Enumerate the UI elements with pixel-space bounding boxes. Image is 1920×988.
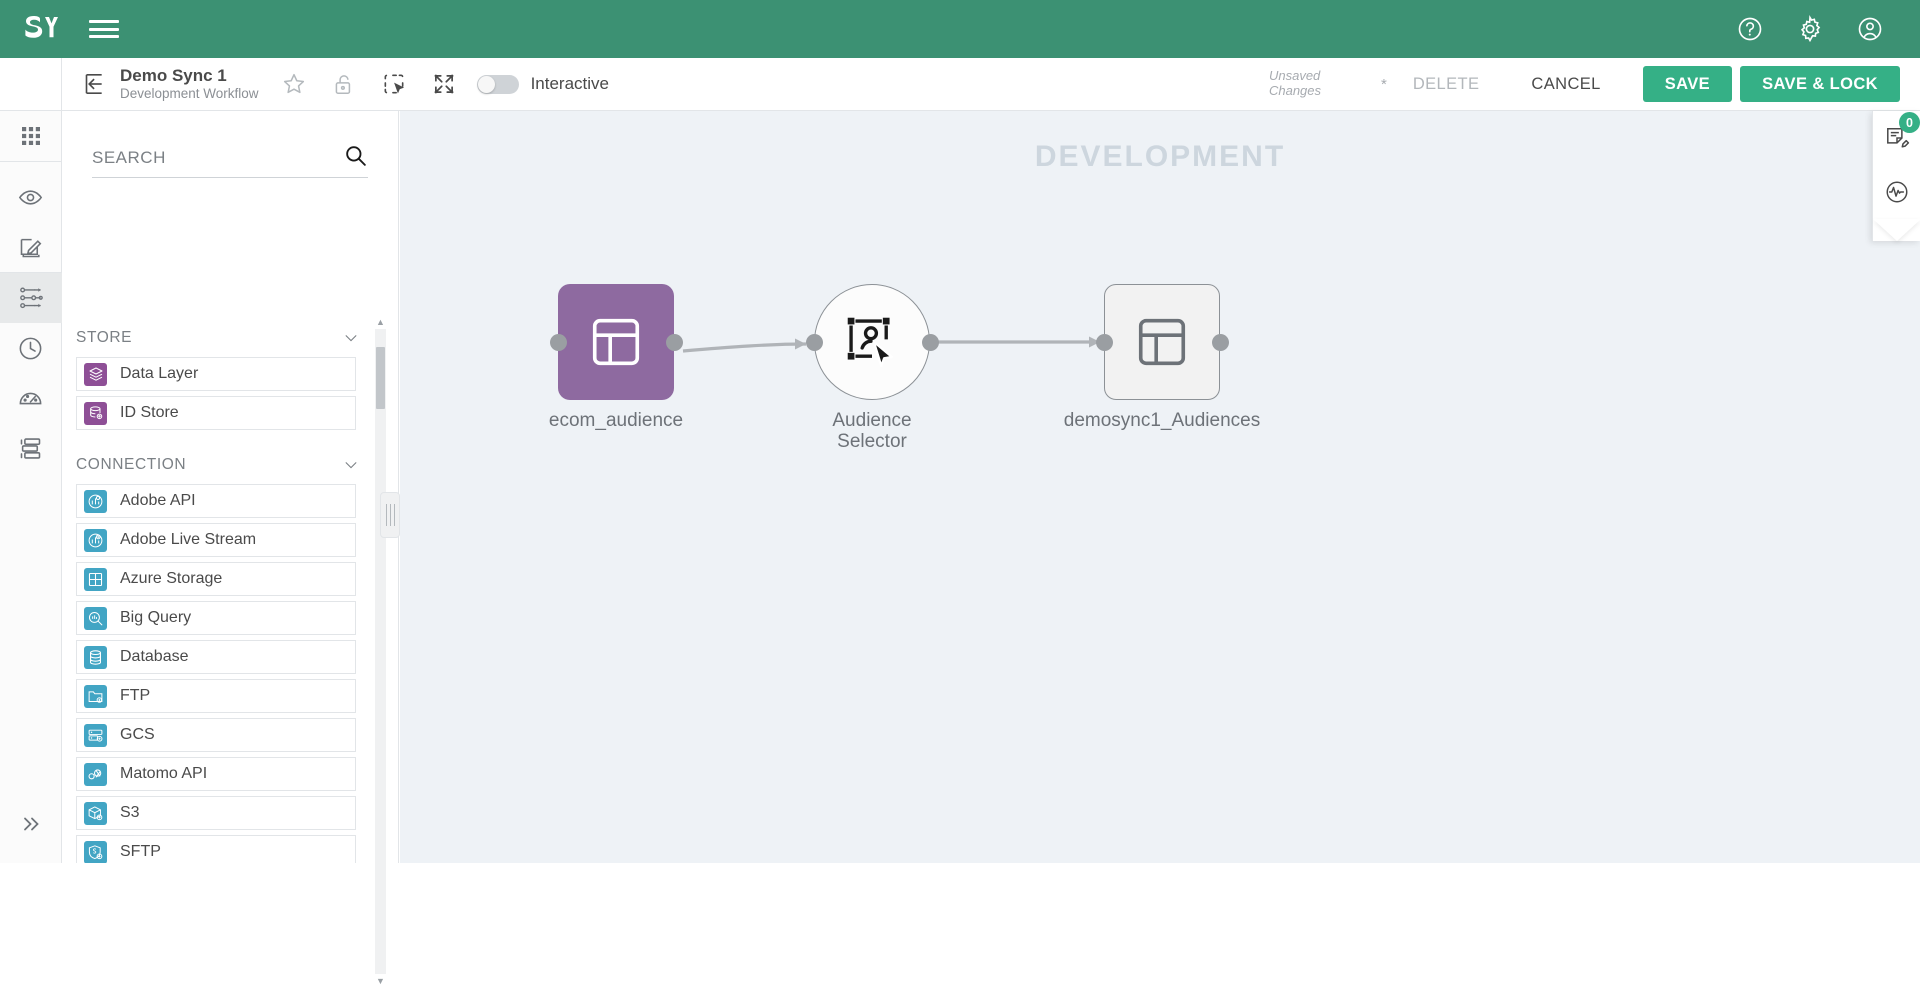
edit-icon [17, 234, 44, 261]
clock-icon [17, 335, 44, 362]
brand-logo-icon [24, 15, 60, 43]
rail-item-apps[interactable] [0, 111, 62, 161]
handle-grip-line [394, 504, 395, 526]
chevron-down-icon[interactable] [342, 329, 360, 347]
fit-to-screen-icon[interactable] [431, 71, 457, 97]
group-header-connection[interactable]: CONNECTION [76, 456, 398, 474]
component-palette-panel: STORE Data Layer ID Store [62, 111, 399, 863]
search-row [92, 143, 368, 178]
top-bar-actions [1736, 15, 1884, 43]
group-label: STORE [76, 329, 132, 347]
account-icon[interactable] [1856, 15, 1884, 43]
save-button[interactable]: SAVE [1643, 66, 1732, 102]
list-item-label: Data Layer [120, 365, 198, 383]
s3-icon [84, 802, 107, 825]
list-item[interactable]: Azure Storage [76, 562, 356, 596]
workflow-icon [18, 285, 44, 311]
notes-count-badge: 0 [1899, 112, 1920, 133]
list-item-label: GCS [120, 726, 155, 744]
scrollbar-thumb[interactable] [376, 347, 385, 409]
node-output-port[interactable] [922, 334, 939, 351]
rail-item-history[interactable] [0, 323, 62, 373]
canvas-watermark-title: DEVELOPMENT [400, 140, 1920, 174]
toolbar-left-spacer [0, 58, 62, 110]
interactive-toggle-group: Interactive [477, 74, 609, 94]
workflow-edges [400, 111, 1920, 863]
node-body[interactable] [558, 284, 674, 400]
list-item[interactable]: FTP [76, 679, 356, 713]
list-item-label: FTP [120, 687, 150, 705]
interactive-toggle[interactable] [477, 75, 519, 94]
unsaved-asterisk: * [1381, 76, 1387, 93]
unsaved-changes-label: Unsaved Changes [1269, 69, 1339, 99]
page-title: Demo Sync 1 [120, 66, 259, 86]
right-tab-strip: 0 [1872, 111, 1920, 241]
list-item[interactable]: Adobe API [76, 484, 356, 518]
edge-1 [683, 344, 806, 351]
unlock-icon[interactable] [331, 71, 357, 97]
page-subtitle: Development Workflow [120, 86, 259, 102]
node-label-line1: Audience [832, 410, 911, 431]
list-item[interactable]: ID Store [76, 396, 356, 430]
audience-selector-icon [841, 311, 903, 373]
node-body[interactable] [814, 284, 930, 400]
chevron-double-right-icon [19, 812, 43, 836]
node-ecom-audience[interactable]: ecom_audience [558, 284, 674, 400]
search-input[interactable] [92, 148, 343, 168]
toolbar-actions: Unsaved Changes * DELETE CANCEL SAVE SAV… [1269, 66, 1900, 102]
save-and-lock-button[interactable]: SAVE & LOCK [1740, 66, 1900, 102]
chevron-down-icon[interactable] [342, 456, 360, 474]
list-item-label: Adobe API [120, 492, 196, 510]
list-item-label: Matomo API [120, 765, 207, 783]
table-layout-icon [587, 313, 645, 371]
hamburger-line [89, 20, 119, 23]
hamburger-line [89, 35, 119, 38]
apps-grid-icon [19, 124, 43, 148]
list-item-label: Big Query [120, 609, 191, 627]
list-item[interactable]: Matomo API [76, 757, 356, 791]
rail-item-edit[interactable] [0, 222, 62, 272]
handle-grip-line [386, 504, 387, 526]
help-icon[interactable] [1736, 15, 1764, 43]
adobe-live-stream-icon [84, 529, 107, 552]
palette-scrollbar[interactable]: ▲ ▼ [375, 329, 386, 974]
azure-storage-icon [84, 568, 107, 591]
handle-grip-line [390, 504, 391, 526]
list-item-label: Adobe Live Stream [120, 531, 256, 549]
left-icon-rail [0, 111, 62, 863]
interactive-toggle-label: Interactive [531, 74, 609, 94]
node-body[interactable] [1104, 284, 1220, 400]
node-label: Audience Selector [832, 410, 911, 453]
scroll-up-arrow-icon[interactable]: ▲ [375, 315, 386, 329]
search-icon[interactable] [343, 143, 368, 168]
node-input-port[interactable] [550, 334, 567, 351]
rail-divider [0, 161, 62, 162]
list-item-label: Azure Storage [120, 570, 222, 588]
node-label-line2: Selector [832, 431, 911, 452]
data-layer-icon [84, 363, 107, 386]
sftp-icon [84, 841, 107, 864]
top-app-bar [0, 0, 1920, 58]
list-item[interactable]: Database [76, 640, 356, 674]
node-audience-selector[interactable]: Audience Selector [814, 284, 930, 400]
gcs-icon [84, 724, 107, 747]
matomo-api-icon [84, 763, 107, 786]
gauge-icon [17, 385, 44, 412]
list-item[interactable]: GCS [76, 718, 356, 752]
toolbar-icon-group [281, 71, 457, 97]
gear-icon[interactable] [1796, 15, 1824, 43]
list-item[interactable]: S3 [76, 796, 356, 830]
workflow-toolbar: Demo Sync 1 Development Workflow [0, 58, 1920, 111]
workflow-title-block: Demo Sync 1 Development Workflow [120, 66, 259, 102]
list-item[interactable]: Adobe Live Stream [76, 523, 356, 557]
node-demosync1-audiences[interactable]: demosync1_Audiences [1104, 284, 1220, 400]
activity-monitor-icon [1884, 179, 1910, 205]
node-input-port[interactable] [806, 334, 823, 351]
list-item[interactable]: Big Query [76, 601, 356, 635]
node-input-port[interactable] [1096, 334, 1113, 351]
eye-icon [17, 184, 44, 211]
delete-button[interactable]: DELETE [1401, 67, 1492, 102]
layers-icon [17, 435, 44, 462]
workflow-canvas[interactable]: DEVELOPMENT ecom_audience [400, 111, 1920, 863]
node-label: ecom_audience [549, 410, 683, 431]
hamburger-menu-button[interactable] [89, 17, 119, 41]
cancel-button[interactable]: CANCEL [1519, 67, 1612, 102]
hamburger-line [89, 28, 119, 31]
rail-item-monitor[interactable] [0, 373, 62, 423]
palette-list[interactable]: STORE Data Layer ID Store [62, 329, 398, 863]
scroll-down-arrow-icon[interactable]: ▼ [375, 974, 386, 988]
edge-1-arrow [795, 339, 806, 350]
marquee-select-icon[interactable] [381, 71, 407, 97]
database-icon [84, 646, 107, 669]
list-item-label: SFTP [120, 843, 161, 861]
panel-resize-handle[interactable] [380, 492, 400, 538]
list-item-label: S3 [120, 804, 140, 822]
right-tab-activity[interactable] [1873, 165, 1920, 219]
rail-expand-button[interactable] [0, 799, 62, 849]
group-label: CONNECTION [76, 456, 186, 474]
node-output-port[interactable] [1212, 334, 1229, 351]
rail-item-workflow[interactable] [0, 273, 62, 323]
right-tab-notch [1873, 219, 1920, 241]
table-layout-icon [1133, 313, 1191, 371]
right-tab-notes[interactable]: 0 [1873, 111, 1920, 165]
adobe-api-icon [84, 490, 107, 513]
id-store-icon [84, 402, 107, 425]
node-label: demosync1_Audiences [1064, 410, 1260, 431]
list-item[interactable]: Data Layer [76, 357, 356, 391]
list-item-label: Database [120, 648, 189, 666]
big-query-icon [84, 607, 107, 630]
group-header-store[interactable]: STORE [76, 329, 398, 347]
ftp-icon [84, 685, 107, 708]
list-item[interactable]: SFTP [76, 835, 356, 863]
brand-logo[interactable] [22, 12, 62, 46]
back-arrow-icon[interactable] [80, 71, 106, 97]
node-output-port[interactable] [666, 334, 683, 351]
list-item-label: ID Store [120, 404, 179, 422]
star-icon[interactable] [281, 71, 307, 97]
rail-item-layers[interactable] [0, 423, 62, 473]
rail-item-view[interactable] [0, 172, 62, 222]
